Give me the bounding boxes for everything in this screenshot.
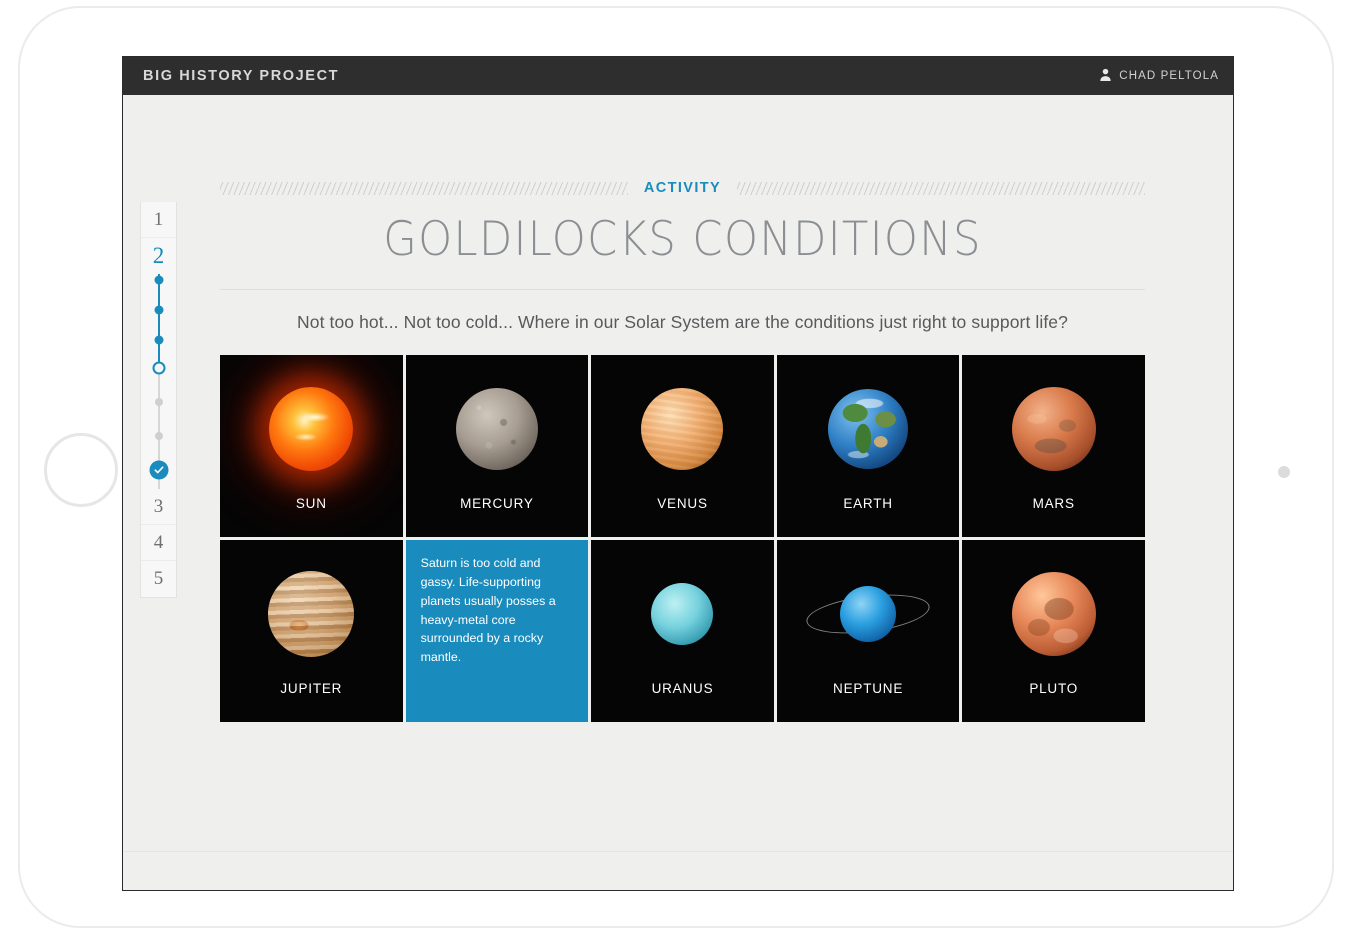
earth-icon [777, 371, 960, 486]
user-account-menu[interactable]: CHAD PELTOLA [1099, 68, 1219, 84]
sun-icon [220, 371, 403, 486]
planet-tile-earth[interactable]: EARTH [777, 355, 960, 537]
page-body: 1 2 [123, 95, 1233, 891]
planet-label-uranus: URANUS [591, 681, 774, 696]
rail-node-5[interactable] [155, 398, 163, 406]
pluto-icon [962, 556, 1145, 671]
planet-label-venus: VENUS [591, 496, 774, 511]
planet-label-mars: MARS [962, 496, 1145, 511]
planet-label-mercury: MERCURY [406, 496, 589, 511]
rail-progress-line-complete [158, 274, 160, 368]
planet-tile-mars[interactable]: MARS [962, 355, 1145, 537]
planet-tile-uranus[interactable]: URANUS [591, 540, 774, 722]
rail-step-1[interactable]: 1 [141, 202, 176, 238]
rail-node-current[interactable] [152, 362, 165, 375]
app-topbar: BIG HISTORY PROJECT CHAD PELTOLA [123, 57, 1233, 95]
mercury-icon [406, 371, 589, 486]
planet-label-pluto: PLUTO [962, 681, 1145, 696]
user-name-label: CHAD PELTOLA [1119, 70, 1219, 82]
hatch-rule-left [220, 182, 628, 195]
saturn-feedback-overlay: Saturn is too cold and gassy. Life-suppo… [406, 540, 589, 722]
jupiter-icon [220, 556, 403, 671]
tablet-screen: BIG HISTORY PROJECT CHAD PELTOLA 1 2 [122, 56, 1234, 891]
app-brand-title[interactable]: BIG HISTORY PROJECT [143, 68, 339, 84]
rail-step-2[interactable]: 2 [141, 238, 176, 274]
rail-node-2[interactable] [154, 306, 163, 315]
activity-kicker-row: ACTIVITY [220, 180, 1145, 196]
page-title: GOLDILOCKS CONDITIONS [257, 212, 1108, 267]
mars-icon [962, 371, 1145, 486]
planet-label-jupiter: JUPITER [220, 681, 403, 696]
planet-tile-venus[interactable]: VENUS [591, 355, 774, 537]
rail-step-5[interactable]: 5 [141, 561, 176, 597]
planet-tile-sun[interactable]: SUN [220, 355, 403, 537]
planet-tile-pluto[interactable]: PLUTO [962, 540, 1145, 722]
tablet-device-frame: BIG HISTORY PROJECT CHAD PELTOLA 1 2 [18, 6, 1334, 928]
rail-node-check[interactable] [149, 461, 168, 480]
planet-label-neptune: NEPTUNE [777, 681, 960, 696]
check-icon [153, 465, 164, 476]
tablet-home-button[interactable] [44, 433, 118, 507]
user-icon [1099, 68, 1112, 84]
lesson-progress-rail: 1 2 [140, 202, 177, 598]
activity-kicker-label: ACTIVITY [644, 180, 721, 196]
rail-node-3[interactable] [154, 336, 163, 345]
activity-prompt: Not too hot... Not too cold... Where in … [220, 312, 1145, 333]
title-divider [220, 289, 1145, 290]
planet-tile-mercury[interactable]: MERCURY [406, 355, 589, 537]
planet-grid: SUN MERCURY VENUS [220, 355, 1145, 722]
venus-icon [591, 371, 774, 486]
planet-tile-saturn[interactable]: Saturn is too cold and gassy. Life-suppo… [406, 540, 589, 722]
activity-content: ACTIVITY GOLDILOCKS CONDITIONS Not too h… [220, 95, 1145, 722]
planet-tile-neptune[interactable]: NEPTUNE [777, 540, 960, 722]
rail-node-6[interactable] [155, 432, 163, 440]
rail-step-3[interactable]: 3 [141, 489, 176, 525]
planet-label-sun: SUN [220, 496, 403, 511]
rail-node-1[interactable] [154, 276, 163, 285]
rail-node-track [141, 274, 176, 489]
uranus-icon [591, 556, 774, 671]
neptune-icon [777, 556, 960, 671]
footer-divider [123, 851, 1233, 852]
tablet-camera-icon [1278, 466, 1290, 478]
hatch-rule-right [737, 182, 1145, 195]
planet-tile-jupiter[interactable]: JUPITER [220, 540, 403, 722]
planet-label-earth: EARTH [777, 496, 960, 511]
rail-step-4[interactable]: 4 [141, 525, 176, 561]
